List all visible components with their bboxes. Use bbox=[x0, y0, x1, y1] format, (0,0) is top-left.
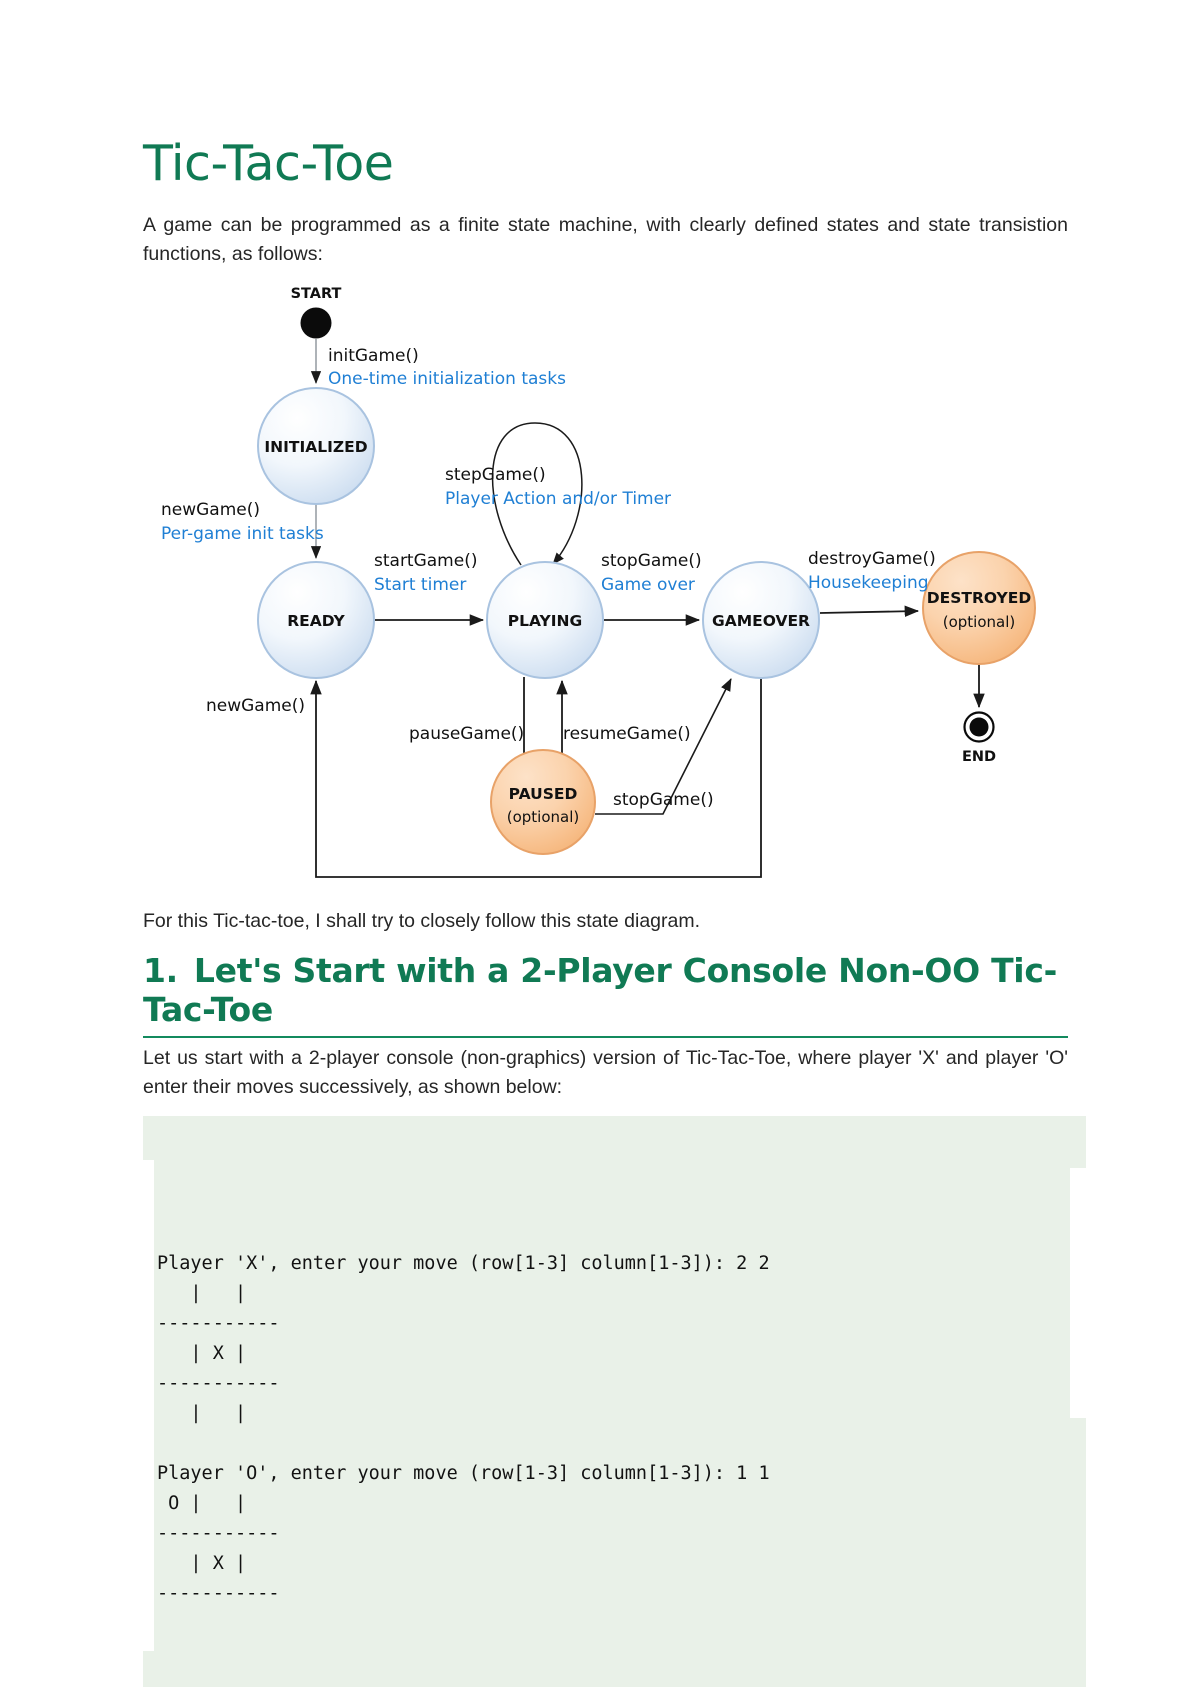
transition-stopgame-note: Game over bbox=[601, 575, 695, 595]
transition-stepgame-fn: stepGame() bbox=[445, 465, 546, 485]
state-initialized[interactable]: INITIALIZED bbox=[258, 388, 374, 504]
transition-stepgame-note: Player Action and/or Timer bbox=[445, 489, 671, 509]
state-playing[interactable]: PLAYING bbox=[487, 562, 603, 678]
console-output-block: Player 'X', enter your move (row[1-3] co… bbox=[143, 1116, 1086, 1687]
section-intro-paragraph: Let us start with a 2-player console (no… bbox=[143, 1044, 1068, 1102]
intro-paragraph: A game can be programmed as a finite sta… bbox=[143, 211, 1068, 269]
transition-startgame-note: Start timer bbox=[374, 575, 466, 595]
transition-startgame-fn: startGame() bbox=[374, 551, 477, 571]
start-node bbox=[301, 308, 332, 339]
transition-resumegame-fn: resumeGame() bbox=[563, 724, 691, 744]
transition-destroygame-note: Housekeeping bbox=[808, 573, 929, 593]
transition-stopgame-fn: stopGame() bbox=[601, 551, 702, 571]
end-node bbox=[965, 713, 994, 742]
console-output-text: Player 'X', enter your move (row[1-3] co… bbox=[157, 1249, 1086, 1609]
end-label: END bbox=[962, 749, 996, 765]
transition-pausegame-fn: pauseGame() bbox=[409, 724, 524, 744]
state-paused[interactable]: PAUSED (optional) bbox=[491, 750, 595, 854]
transition-newgame-init-note: Per-game init tasks bbox=[161, 524, 324, 544]
state-gameover-label: GAMEOVER bbox=[712, 612, 810, 630]
state-paused-label: PAUSED bbox=[509, 785, 578, 803]
transition-destroygame-fn: destroyGame() bbox=[808, 549, 936, 569]
transition-initgame-fn: initGame() bbox=[328, 346, 419, 366]
state-initialized-label: INITIALIZED bbox=[264, 438, 367, 456]
section-number: 1. bbox=[143, 951, 178, 990]
state-machine-diagram: INITIALIZED READY PLAYING GAMEOVER DESTR bbox=[143, 283, 1068, 903]
start-label: START bbox=[291, 286, 342, 302]
section-heading: 1.Let's Start with a 2-Player Console No… bbox=[143, 952, 1068, 1030]
state-ready[interactable]: READY bbox=[258, 562, 374, 678]
code-gutter-left bbox=[143, 1160, 154, 1651]
state-paused-sublabel: (optional) bbox=[507, 808, 580, 826]
section-heading-text: Let's Start with a 2-Player Console Non-… bbox=[143, 951, 1057, 1029]
transition-stopgame-paused-fn: stopGame() bbox=[613, 790, 714, 810]
transition-newgame-init-fn: newGame() bbox=[161, 500, 260, 520]
edge-gameover-destroyed bbox=[820, 611, 918, 613]
after-diagram-paragraph: For this Tic-tac-toe, I shall try to clo… bbox=[143, 907, 1068, 936]
state-destroyed[interactable]: DESTROYED (optional) bbox=[923, 552, 1035, 664]
page-title: Tic-Tac-Toe bbox=[143, 0, 1068, 189]
state-ready-label: READY bbox=[287, 612, 345, 630]
state-destroyed-label: DESTROYED bbox=[927, 589, 1032, 607]
state-destroyed-sublabel: (optional) bbox=[943, 613, 1016, 631]
state-playing-label: PLAYING bbox=[508, 612, 582, 630]
document-page: Tic-Tac-Toe A game can be programmed as … bbox=[0, 0, 1200, 1553]
transition-initgame-note: One-time initialization tasks bbox=[328, 369, 566, 389]
section-divider bbox=[143, 1036, 1068, 1038]
document-content: Tic-Tac-Toe A game can be programmed as … bbox=[143, 0, 1068, 1687]
state-gameover[interactable]: GAMEOVER bbox=[703, 562, 819, 678]
transition-newgame-gameover-fn: newGame() bbox=[206, 696, 305, 716]
